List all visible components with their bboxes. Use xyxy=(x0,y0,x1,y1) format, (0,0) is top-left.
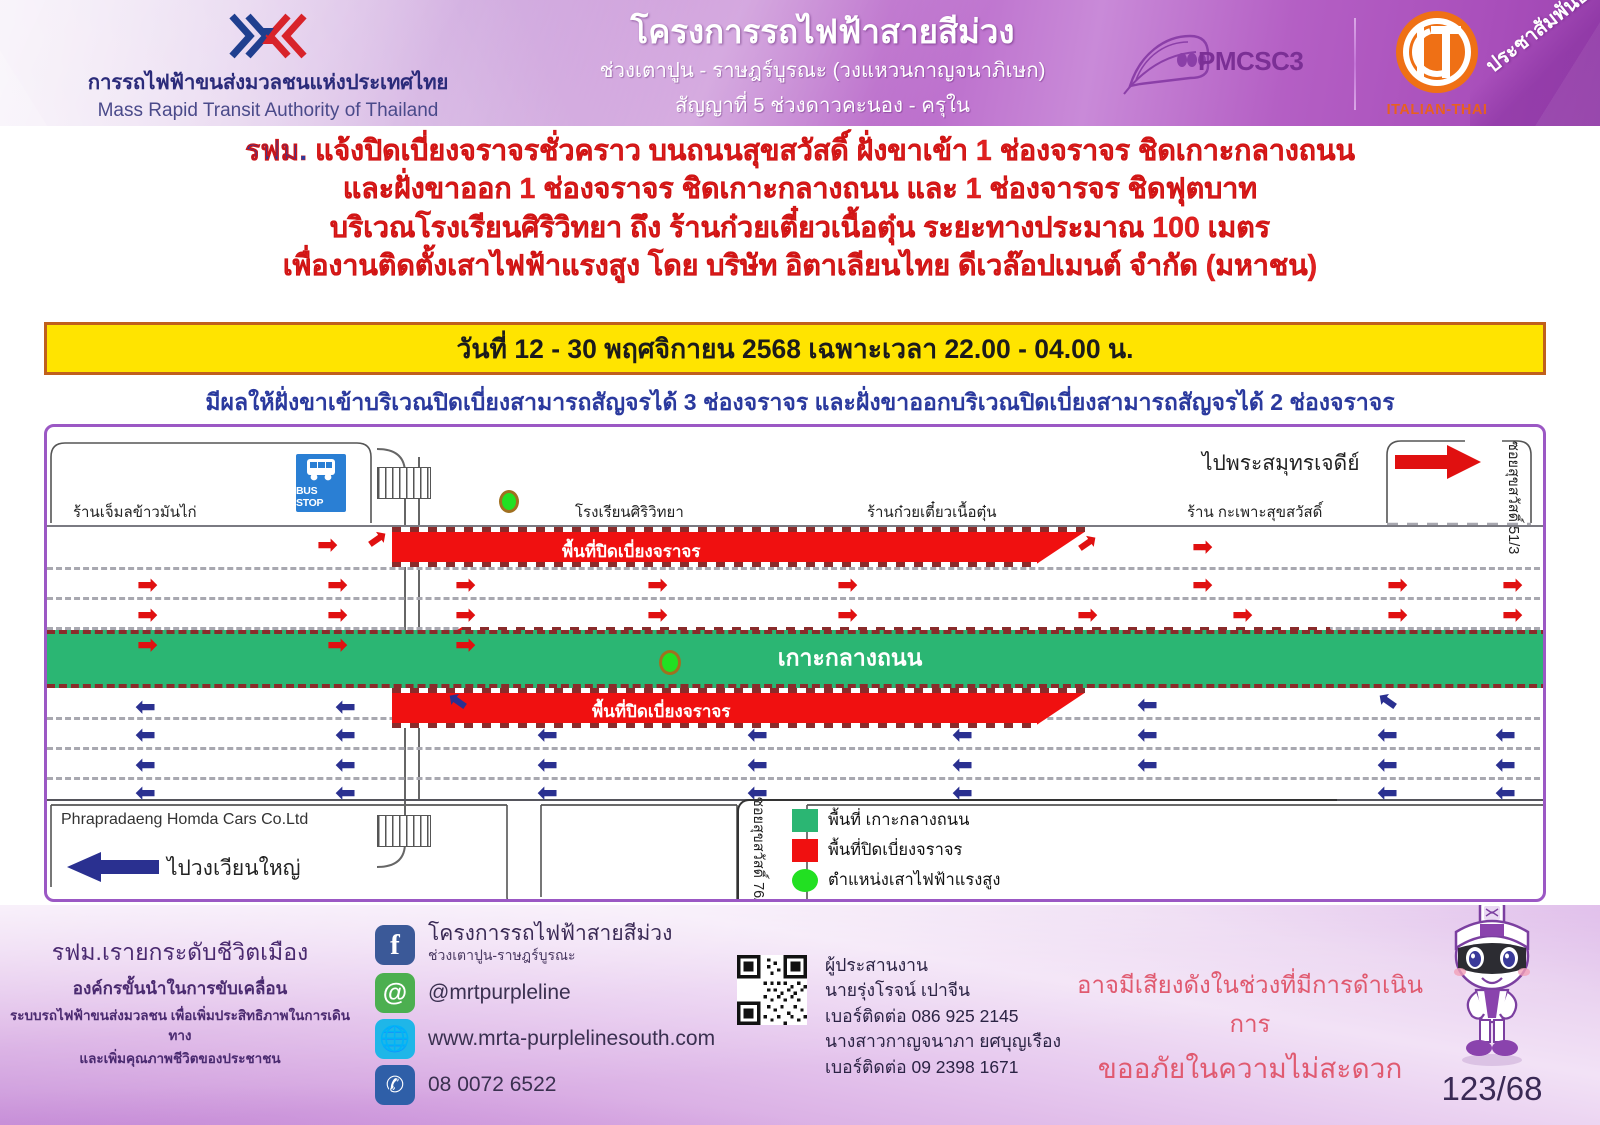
traffic-diagram: พื้นที่ปิดเบี่ยงจราจร พื้นที่ปิดเบี่ยงจร… xyxy=(44,424,1546,902)
facebook-page-name: โครงการรถไฟฟ้าสายสีม่วง xyxy=(428,923,672,945)
date-banner-text: วันที่ 12 - 30 พฤศจิกายน 2568 เฉพาะเวลา … xyxy=(457,328,1134,370)
notice-line-2: และฝั่งขาออก 1 ช่องจราจร ชิดเกาะกลางถนน … xyxy=(0,170,1600,208)
website-row[interactable]: 🌐 www.mrta-purplelinesouth.com xyxy=(375,1019,745,1059)
project-title: โครงการรถไฟฟ้าสายสีม่วง xyxy=(545,14,1100,50)
traffic-arrow-outbound: ⬅ xyxy=(1495,781,1516,806)
traffic-arrow-inbound: ➡ xyxy=(837,573,858,598)
poi-label-noodle-shop: ร้านก๋วยเตี๋ยวเนื้อตุ๋น xyxy=(867,500,997,524)
traffic-arrow-inbound: ➡ xyxy=(317,533,338,558)
closure-notice: รฟม. แจ้งปิดเบี่ยงจราจรชั่วคราว บนถนนสุข… xyxy=(0,132,1600,286)
noise-warning-line-2: ขออภัยในความไม่สะดวก xyxy=(1060,1047,1440,1091)
traffic-arrow-outbound: ⬅ xyxy=(135,753,156,778)
globe-icon[interactable]: 🌐 xyxy=(375,1019,415,1059)
poi-label-shop-1: ร้านเจ็มลข้าวมันไก่ xyxy=(73,500,197,524)
facebook-page-sub: ช่วงเตาปูน-ราษฎร์บูรณะ xyxy=(428,945,672,967)
lane-divider-out-2 xyxy=(47,747,1546,750)
notice-agency-prefix: รฟม. xyxy=(245,135,307,167)
mrta-branding: การรถไฟฟ้าขนส่งมวลชนแห่งประเทศไทย Mass R… xyxy=(48,8,488,122)
road-median: เกาะกลางถนน xyxy=(47,630,1546,688)
traffic-arrow-inbound: ➡ xyxy=(327,603,348,628)
website-url: www.mrta-purplelinesouth.com xyxy=(428,1027,715,1051)
line-row[interactable]: @ @mrtpurpleline xyxy=(375,973,745,1013)
traffic-arrow-outbound: ⬅ xyxy=(747,723,768,748)
notice-line-3: บริเวณโรงเรียนศิริวิทยา ถึง ร้านก๋วยเตี๋… xyxy=(0,209,1600,247)
traffic-arrow-outbound: ⬅ xyxy=(747,753,768,778)
mascot-icon xyxy=(1432,905,1552,1078)
traffic-arrow-inbound: ➡ xyxy=(137,573,158,598)
traffic-arrow-outbound: ⬅ xyxy=(135,723,156,748)
traffic-arrow-outbound: ⬅ xyxy=(335,695,356,720)
traffic-arrow-outbound: ⬅ xyxy=(1495,753,1516,778)
contractor-logos: PMCSC3 ITALIAN-THAI ประชาสัมพันธ์ xyxy=(1110,0,1600,126)
pmcsc3-label: PMCSC3 xyxy=(1198,46,1303,77)
phone-row[interactable]: ✆ 08 0072 6522 xyxy=(375,1065,745,1105)
lane-availability-note: มีผลให้ฝั่งขาเข้าบริเวณปิดเบี่ยงสามารถสั… xyxy=(0,385,1600,421)
traffic-arrow-inbound: ➡ xyxy=(137,603,158,628)
direction-label-left: ไปวงเวียนใหญ่ xyxy=(167,852,301,885)
date-banner: วันที่ 12 - 30 พฤศจิกายน 2568 เฉพาะเวลา … xyxy=(44,322,1546,375)
traffic-arrow-inbound: ➡ xyxy=(1192,535,1213,560)
traffic-arrow-outbound: ⬅ xyxy=(135,695,156,720)
traffic-arrow-outbound: ⬅ xyxy=(1377,723,1398,748)
closure-zone-bottom: พื้นที่ปิดเบี่ยงจราจร xyxy=(392,688,1092,728)
mrta-slogan-block: รฟม.เรายกระดับชีวิตเมือง องค์กรขั้นนำในก… xyxy=(0,935,360,1069)
direction-arrow-left-icon xyxy=(67,852,159,882)
lane-divider-in-1 xyxy=(47,567,1546,570)
project-title-block: โครงการรถไฟฟ้าสายสีม่วง ช่วงเตาปูน - ราษ… xyxy=(545,14,1100,122)
direction-arrow-right-icon xyxy=(1395,445,1481,479)
traffic-arrow-outbound: ⬅ xyxy=(952,723,973,748)
traffic-arrow-outbound: ⬅ xyxy=(537,781,558,806)
italian-thai-label: ITALIAN-THAI xyxy=(1372,102,1502,118)
page-header: การรถไฟฟ้าขนส่งมวลชนแห่งประเทศไทย Mass R… xyxy=(0,0,1600,126)
lane-divider-in-2 xyxy=(47,597,1546,600)
closure-zone-bottom-label: พื้นที่ปิดเบี่ยงจราจร xyxy=(592,698,730,725)
project-section: ช่วงเตาปูน - ราษฎร์บูรณะ (วงแหวนกาญจนาภิ… xyxy=(545,54,1100,87)
traffic-arrow-outbound: ⬅ xyxy=(335,753,356,778)
traffic-arrow-inbound: ➡ xyxy=(1387,603,1408,628)
qr-code xyxy=(737,955,807,1025)
social-links: f โครงการรถไฟฟ้าสายสีม่วง ช่วงเตาปูน-ราษ… xyxy=(375,923,745,1111)
power-pole-marker-north xyxy=(499,490,519,513)
traffic-arrow-outbound: ⬅ xyxy=(952,753,973,778)
poi-label-honda-cars: Phrapradaeng Homda Cars Co.Ltd xyxy=(61,811,308,829)
mrta-logo-icon xyxy=(218,8,318,64)
noise-warning-block: อาจมีเสียงดังในช่วงที่มีการดำเนินการ ขออ… xyxy=(1060,965,1440,1091)
traffic-arrow-inbound: ➡ xyxy=(455,573,476,598)
traffic-arrow-inbound: ➡ xyxy=(1502,573,1523,598)
traffic-arrow-inbound: ➡ xyxy=(455,633,476,658)
median-label: เกาะกลางถนน xyxy=(778,640,923,676)
coordinator-title: ผู้ประสานงาน xyxy=(825,953,1061,978)
notice-line-4: เพื่องานติดตั้งเสาไฟฟ้าแรงสูง โดย บริษัท… xyxy=(0,247,1600,285)
traffic-arrow-inbound: ➡ xyxy=(137,633,158,658)
lane-divider-out-3 xyxy=(47,777,1546,780)
power-pole-marker-median xyxy=(659,650,681,675)
bus-stop-sign: BUS STOP xyxy=(294,452,348,514)
poi-label-school: โรงเรียนศิริวิทยา xyxy=(575,500,684,524)
notice-line-1-text: แจ้งปิดเบี่ยงจราจรชั่วคราว บนถนนสุขสวัสด… xyxy=(307,135,1355,167)
project-contract: สัญญาที่ 5 ช่วงดาวคะนอง - ครุใน xyxy=(545,89,1100,122)
poi-label-shop-4: ร้าน กะเพาะสุขสวัสดิ์ xyxy=(1187,500,1322,524)
page-number: 123/68 xyxy=(1422,1070,1562,1108)
facebook-icon[interactable]: f xyxy=(375,925,415,965)
traffic-arrow-outbound: ⬅ xyxy=(1137,693,1158,718)
slogan-detail-2: และเพิ่มคุณภาพชีวิตของประชาชน xyxy=(0,1049,360,1069)
page-footer: รฟม.เรายกระดับชีวิตเมือง องค์กรขั้นนำในก… xyxy=(0,905,1600,1125)
slogan-detail-1: ระบบรถไฟฟ้าขนส่งมวลชน เพื่อเพิ่มประสิทธิ… xyxy=(0,1006,360,1045)
coordinator-name-2: นางสาวกาญจนาภา ยศบุญเรือง xyxy=(825,1029,1061,1054)
crosswalk-top xyxy=(377,467,431,499)
traffic-arrow-inbound: ➡ xyxy=(455,603,476,628)
coordinator-phone-1: เบอร์ติดต่อ 086 925 2145 xyxy=(825,1004,1061,1029)
line-id: @mrtpurpleline xyxy=(428,981,571,1005)
at-icon[interactable]: @ xyxy=(375,973,415,1013)
traffic-arrow-inbound: ➡ xyxy=(647,573,668,598)
noise-warning-line-1: อาจมีเสียงดังในช่วงที่มีการดำเนินการ xyxy=(1060,965,1440,1043)
bus-stop-label: BUS STOP xyxy=(296,485,346,509)
qr-code-icon xyxy=(737,955,807,1025)
closure-zone-top-label: พื้นที่ปิดเบี่ยงจราจร xyxy=(562,538,700,565)
traffic-arrow-inbound: ➡ xyxy=(647,603,668,628)
coordinator-name-1: นายรุ่งโรจน์ เปาจีน xyxy=(825,978,1061,1003)
traffic-arrow-outbound: ⬅ xyxy=(1137,723,1158,748)
bus-icon xyxy=(304,457,338,483)
traffic-arrow-inbound: ➡ xyxy=(1077,603,1098,628)
slogan-sub: องค์กรขั้นนำในการขับเคลื่อน xyxy=(0,975,360,1002)
crosswalk-bottom xyxy=(377,815,431,847)
traffic-arrow-inbound: ➡ xyxy=(327,573,348,598)
traffic-arrow-outbound: ⬅ xyxy=(1137,753,1158,778)
coordinator-block: ผู้ประสานงาน นายรุ่งโรจน์ เปาจีน เบอร์ติ… xyxy=(825,953,1061,1080)
agency-name-th: การรถไฟฟ้าขนส่งมวลชนแห่งประเทศไทย xyxy=(48,66,488,99)
traffic-arrow-inbound: ➡ xyxy=(1387,573,1408,598)
traffic-arrow-inbound: ➡ xyxy=(1192,573,1213,598)
traffic-arrow-outbound: ⬅ xyxy=(537,723,558,748)
traffic-arrow-outbound: ⬅ xyxy=(335,723,356,748)
hotline-number: 08 0072 6522 xyxy=(428,1073,556,1097)
notice-line-1: รฟม. แจ้งปิดเบี่ยงจราจรชั่วคราว บนถนนสุข… xyxy=(0,132,1600,170)
closure-zone-top: พื้นที่ปิดเบี่ยงจราจร xyxy=(392,527,1092,567)
facebook-row[interactable]: f โครงการรถไฟฟ้าสายสีม่วง ช่วงเตาปูน-ราษ… xyxy=(375,923,745,967)
legend-frame xyxy=(737,799,1337,902)
soi-label-right: ซอยสุขสวัสดิ์ 51/3 xyxy=(1502,441,1525,554)
traffic-arrow-outbound: ⬅ xyxy=(537,753,558,778)
traffic-arrow-outbound: ⬅ xyxy=(1377,781,1398,806)
traffic-arrow-outbound: ⬅ xyxy=(1377,753,1398,778)
header-divider xyxy=(1354,18,1356,110)
pmcsc3-logo: PMCSC3 xyxy=(1120,24,1330,99)
traffic-arrow-inbound: ➡ xyxy=(1232,603,1253,628)
agency-name-en: Mass Rapid Transit Authority of Thailand xyxy=(48,100,488,122)
traffic-arrow-outbound: ⬅ xyxy=(135,781,156,806)
traffic-arrow-outbound: ⬅ xyxy=(1495,723,1516,748)
traffic-arrow-outbound: ⬅ xyxy=(335,781,356,806)
phone-icon[interactable]: ✆ xyxy=(375,1065,415,1105)
direction-label-right: ไปพระสมุทรเจดีย์ xyxy=(1202,447,1360,480)
coordinator-phone-2: เบอร์ติดต่อ 09 2398 1671 xyxy=(825,1055,1061,1080)
traffic-arrow-inbound: ➡ xyxy=(327,633,348,658)
traffic-arrow-inbound: ➡ xyxy=(1502,603,1523,628)
traffic-arrow-inbound: ➡ xyxy=(837,603,858,628)
slogan-main: รฟม.เรายกระดับชีวิตเมือง xyxy=(0,935,360,971)
